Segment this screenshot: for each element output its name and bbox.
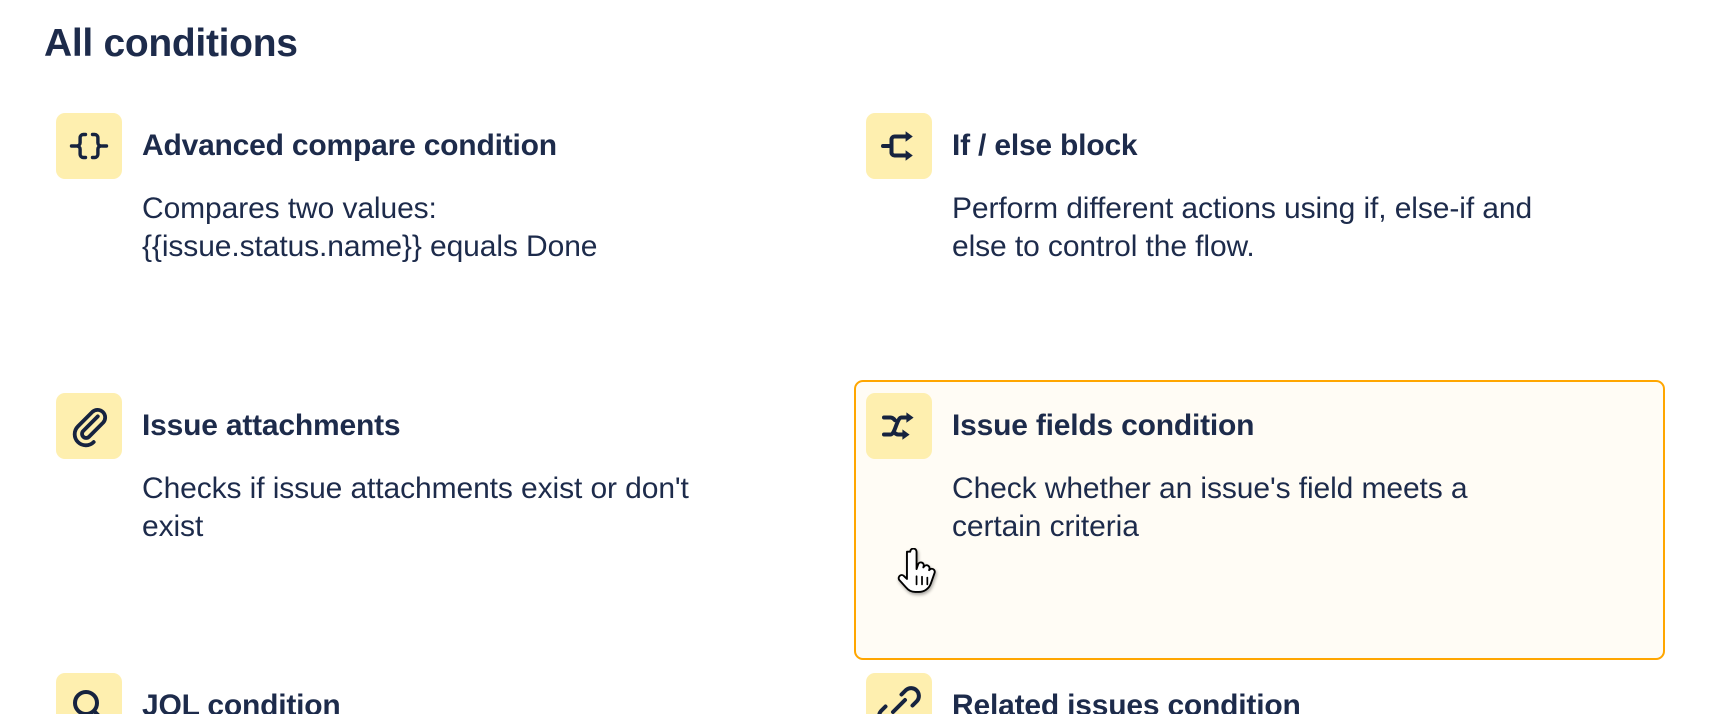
- condition-description: Perform different actions using if, else…: [952, 190, 1542, 267]
- condition-card-related-issues-condition[interactable]: Related issues condition: [854, 660, 1665, 714]
- condition-title: If / else block: [952, 129, 1137, 164]
- condition-card-header: Issue attachments: [56, 392, 772, 460]
- condition-card-issue-attachments[interactable]: Issue attachments Checks if issue attach…: [44, 380, 784, 660]
- magnifier-icon: [56, 673, 122, 714]
- condition-card-header: If / else block: [866, 112, 1653, 180]
- paperclip-icon: [56, 393, 122, 459]
- condition-title: Advanced compare condition: [142, 129, 557, 164]
- curly-braces-icon: [56, 113, 122, 179]
- condition-card-header: Related issues condition: [866, 672, 1653, 714]
- page-title: All conditions: [44, 21, 298, 68]
- condition-card-advanced-compare-condition[interactable]: Advanced compare condition Compares two …: [44, 100, 784, 380]
- condition-card-header: Advanced compare condition: [56, 112, 772, 180]
- condition-description: Compares two values: {{issue.status.name…: [142, 190, 702, 267]
- conditions-grid: Advanced compare condition Compares two …: [44, 100, 1666, 714]
- condition-description: Check whether an issue's field meets a c…: [952, 470, 1542, 547]
- condition-title: Related issues condition: [952, 689, 1301, 714]
- condition-card-header: Issue fields condition: [866, 392, 1653, 460]
- condition-card-jql-condition[interactable]: JQL condition: [44, 660, 784, 714]
- condition-card-issue-fields-condition[interactable]: Issue fields condition Check whether an …: [854, 380, 1665, 660]
- branch-split-icon: [866, 113, 932, 179]
- condition-title: JQL condition: [142, 689, 341, 714]
- link-icon: [866, 673, 932, 714]
- all-conditions-panel: All conditions Advanced compare conditio…: [0, 0, 1710, 714]
- shuffle-icon: [866, 393, 932, 459]
- condition-title: Issue fields condition: [952, 409, 1254, 444]
- condition-card-header: JQL condition: [56, 672, 772, 714]
- condition-description: Checks if issue attachments exist or don…: [142, 470, 702, 547]
- condition-title: Issue attachments: [142, 409, 400, 444]
- condition-card-if-else-block[interactable]: If / else block Perform different action…: [854, 100, 1665, 380]
